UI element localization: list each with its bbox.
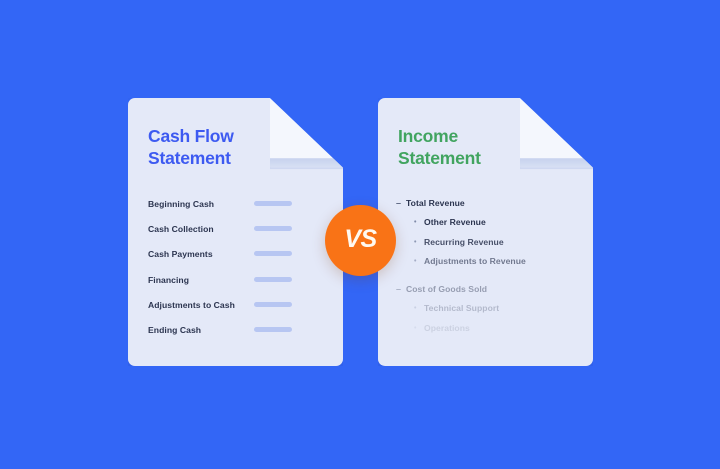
cash-flow-item-label: Cash Collection xyxy=(148,224,214,234)
income-item-label: Total Revenue xyxy=(406,199,465,208)
list-item[interactable]: • Other Revenue xyxy=(396,218,578,237)
list-item[interactable]: Adjustments to Cash xyxy=(148,300,326,325)
versus-label: VS xyxy=(344,225,376,254)
versus-badge: VS xyxy=(325,205,396,276)
cash-flow-card-title: Cash Flow Statement xyxy=(148,125,268,170)
income-card-title: Income Statement xyxy=(398,125,518,170)
list-item[interactable]: Cash Collection xyxy=(148,224,326,249)
list-item[interactable]: • Technical Support xyxy=(396,304,578,323)
income-item-list: – Total Revenue • Other Revenue • Recurr… xyxy=(396,199,578,343)
income-item-label: Recurring Revenue xyxy=(424,238,504,247)
bullet-marker-icon: • xyxy=(414,305,424,312)
income-item-label: Technical Support xyxy=(424,304,499,313)
list-item[interactable]: – Cost of Goods Sold xyxy=(396,285,578,304)
cash-flow-item-list: Beginning Cash Cash Collection Cash Paym… xyxy=(148,199,326,350)
cash-flow-item-label: Cash Payments xyxy=(148,249,213,259)
cash-flow-title-line-1: Cash Flow xyxy=(148,125,268,147)
cash-flow-item-label: Financing xyxy=(148,275,189,285)
income-item-label: Operations xyxy=(424,324,470,333)
cash-flow-item-label: Ending Cash xyxy=(148,325,201,335)
income-item-label: Other Revenue xyxy=(424,218,486,227)
dash-marker-icon: – xyxy=(396,285,406,294)
cash-flow-item-label: Adjustments to Cash xyxy=(148,300,235,310)
dash-marker-icon: – xyxy=(396,199,406,208)
bullet-marker-icon: • xyxy=(414,219,424,226)
list-item[interactable]: • Recurring Revenue xyxy=(396,238,578,257)
value-placeholder-bar xyxy=(254,251,292,256)
comparison-graphic: Cash Flow Statement Beginning Cash Cash … xyxy=(0,0,720,469)
list-item[interactable]: Ending Cash xyxy=(148,325,326,350)
income-title-line-2: Statement xyxy=(398,147,518,169)
list-item[interactable]: Cash Payments xyxy=(148,249,326,274)
income-statement-card[interactable]: Income Statement – Total Revenue • Other… xyxy=(378,98,593,366)
income-title-line-1: Income xyxy=(398,125,518,147)
value-placeholder-bar xyxy=(254,302,292,307)
list-item[interactable]: • Operations xyxy=(396,324,578,343)
cash-flow-title-line-2: Statement xyxy=(148,147,268,169)
value-placeholder-bar xyxy=(254,201,292,206)
list-item[interactable]: Financing xyxy=(148,275,326,300)
bullet-marker-icon: • xyxy=(414,239,424,246)
cash-flow-statement-card[interactable]: Cash Flow Statement Beginning Cash Cash … xyxy=(128,98,343,366)
value-placeholder-bar xyxy=(254,226,292,231)
bullet-marker-icon: • xyxy=(414,325,424,332)
list-item[interactable]: Beginning Cash xyxy=(148,199,326,224)
income-item-label: Adjustments to Revenue xyxy=(424,257,526,266)
list-item[interactable]: – Total Revenue xyxy=(396,199,578,218)
folded-corner-icon xyxy=(270,98,343,168)
bullet-marker-icon: • xyxy=(414,258,424,265)
folded-corner-icon xyxy=(520,98,593,168)
income-item-label: Cost of Goods Sold xyxy=(406,285,487,294)
value-placeholder-bar xyxy=(254,277,292,282)
cash-flow-item-label: Beginning Cash xyxy=(148,199,214,209)
value-placeholder-bar xyxy=(254,327,292,332)
list-item[interactable]: • Adjustments to Revenue xyxy=(396,257,578,276)
